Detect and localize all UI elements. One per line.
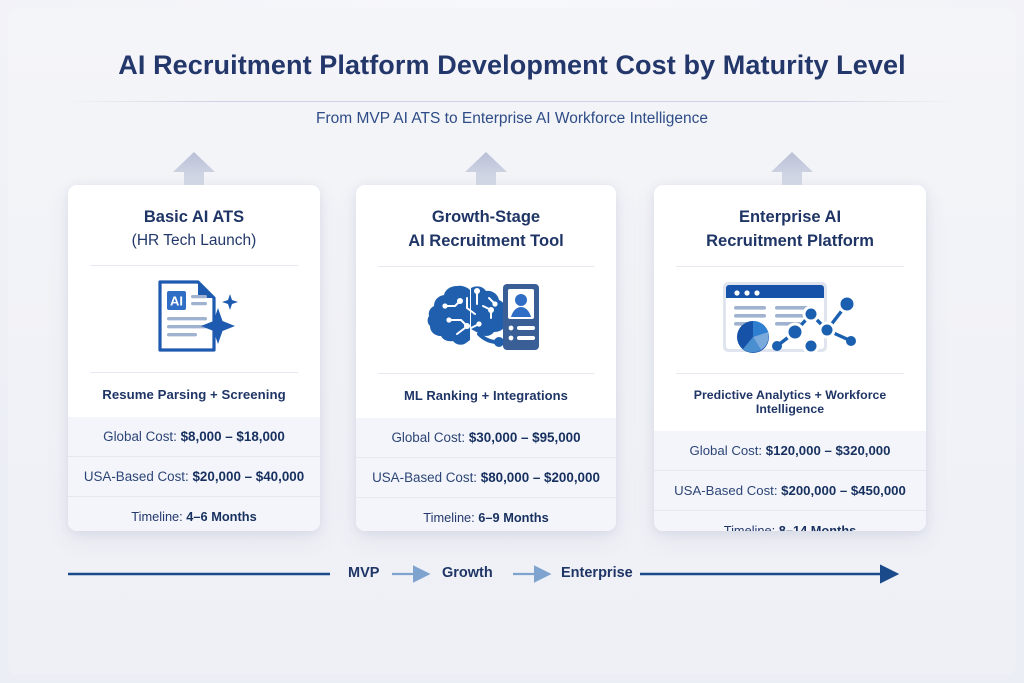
cost-label: USA-Based Cost:: [674, 483, 777, 498]
timeline-label: Timeline:: [724, 523, 775, 531]
card-feature: ML Ranking + Integrations: [356, 374, 616, 418]
cost-value: $80,000 – $200,000: [481, 470, 600, 485]
cost-band: Global Cost: $30,000 – $95,000 USA-Based…: [356, 418, 616, 531]
timeline-label: Timeline:: [131, 509, 182, 524]
timeline-value: 4–6 Months: [186, 509, 256, 524]
cost-row-global: Global Cost: $8,000 – $18,000: [68, 417, 320, 457]
card-header: Growth-Stage AI Recruitment Tool: [356, 185, 616, 266]
card-title: Enterprise AI: [664, 205, 916, 229]
maturity-card-basic[interactable]: Basic AI ATS (HR Tech Launch) AI: [68, 185, 320, 531]
progression-footer: MVP Growth Enterprise: [0, 556, 1024, 596]
cost-row-global: Global Cost: $120,000 – $320,000: [654, 431, 926, 471]
cost-value: $30,000 – $95,000: [469, 430, 581, 445]
infographic-root: AI Recruitment Platform Development Cost…: [0, 0, 1024, 683]
stage-label-mvp: MVP: [338, 565, 389, 581]
page-subtitle: From MVP AI ATS to Enterprise AI Workfor…: [0, 110, 1024, 128]
page-title: AI Recruitment Platform Development Cost…: [0, 50, 1024, 81]
cost-label: Global Cost:: [391, 430, 465, 445]
card-title: Basic AI ATS: [78, 205, 310, 229]
maturity-card-growth[interactable]: Growth-Stage AI Recruitment Tool: [356, 185, 616, 531]
timeline-row: Timeline: 6–9 Months: [356, 498, 616, 531]
cost-row-usa: USA-Based Cost: $80,000 – $200,000: [356, 458, 616, 498]
cost-row-global: Global Cost: $30,000 – $95,000: [356, 418, 616, 458]
timeline-row: Timeline: 4–6 Months: [68, 497, 320, 531]
card-feature: Predictive Analytics + Workforce Intelli…: [654, 374, 926, 431]
brain-profile-card-icon: [427, 276, 545, 363]
cost-label: Global Cost:: [690, 443, 763, 458]
stage-label-enterprise: Enterprise: [551, 565, 643, 581]
cost-label: USA-Based Cost:: [84, 469, 189, 484]
card-icon-area: [654, 267, 926, 373]
card-title-line2: AI Recruitment Tool: [366, 229, 606, 253]
cost-value: $200,000 – $450,000: [781, 483, 906, 498]
header-divider: [62, 101, 962, 102]
timeline-value: 8–14 Months: [779, 523, 857, 531]
card-icon-area: [356, 267, 616, 373]
progression-axis: [0, 556, 1024, 596]
cost-value: $120,000 – $320,000: [766, 443, 891, 458]
cost-row-usa: USA-Based Cost: $200,000 – $450,000: [654, 471, 926, 511]
card-header: Basic AI ATS (HR Tech Launch): [68, 185, 320, 265]
card-feature: Resume Parsing + Screening: [68, 373, 320, 417]
cost-value: $20,000 – $40,000: [192, 469, 304, 484]
cost-label: USA-Based Cost:: [372, 470, 477, 485]
maturity-card-enterprise[interactable]: Enterprise AI Recruitment Platform: [654, 185, 926, 531]
ai-document-icon: AI: [146, 276, 242, 361]
cost-band: Global Cost: $8,000 – $18,000 USA-Based …: [68, 417, 320, 531]
card-title: Growth-Stage: [366, 205, 606, 229]
stage-label-growth: Growth: [432, 565, 503, 581]
cost-band: Global Cost: $120,000 – $320,000 USA-Bas…: [654, 431, 926, 531]
timeline-row: Timeline: 8–14 Months: [654, 511, 926, 531]
card-icon-area: AI: [68, 266, 320, 372]
timeline-label: Timeline:: [423, 510, 474, 525]
cost-label: Global Cost:: [103, 429, 177, 444]
card-title-line2: Recruitment Platform: [664, 229, 916, 253]
card-header: Enterprise AI Recruitment Platform: [654, 185, 926, 266]
svg-text:AI: AI: [170, 294, 183, 309]
timeline-value: 6–9 Months: [478, 510, 548, 525]
card-subtitle: (HR Tech Launch): [78, 229, 310, 252]
cost-value: $8,000 – $18,000: [181, 429, 285, 444]
cost-row-usa: USA-Based Cost: $20,000 – $40,000: [68, 457, 320, 497]
analytics-dashboard-icon: [715, 274, 865, 365]
